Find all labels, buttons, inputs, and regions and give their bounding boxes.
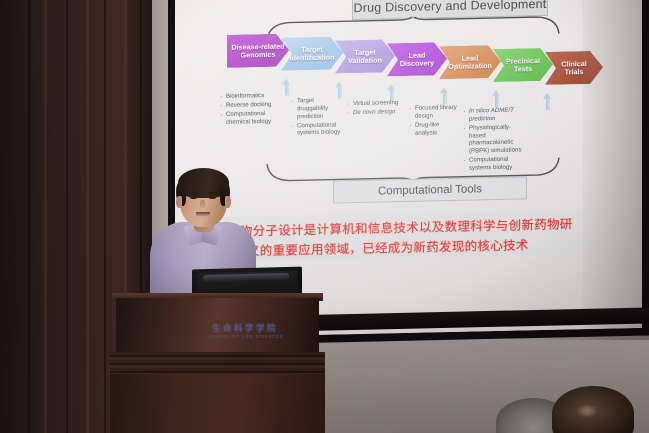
audience-head-highlight [576,404,598,418]
stage-label-3b: Discovery [400,58,434,68]
bullet-item: In silico ADME/T prediction [463,106,525,123]
speaker-eye-left [190,196,197,199]
bullet-item: Physiologically-based pharmacokinetic (P… [463,123,525,156]
stage-chevron-2: TargetValidation [335,39,395,73]
bullet-item: De novo design [347,108,405,117]
stage-label-4b: Optimization [448,61,492,71]
stage-label-0b: Genomics [241,49,276,59]
bullet-item: Virtual screening [347,99,405,108]
bullet-item: Focused library design [409,104,457,121]
bullet-item: Bioinformatics [220,92,286,101]
screen-shading [583,0,642,329]
bullet-item: Computational systems biology [291,121,343,138]
stage-chevron-0: Disease-relatedGenomics [227,34,289,68]
speaker-mouth [196,212,210,217]
bullet-column-2: Virtual screening De novo design [347,99,405,118]
computational-tools-label: Computational Tools [378,183,482,197]
bullet-item: Computational chemical biology [220,110,286,127]
podium-organization-en: SCHOOL OF LIFE SCIENCES [208,334,283,339]
stage-label-5b: Tests [514,64,532,73]
bullet-item: Target druggability prediction [291,96,343,121]
stage-chevron-5: PrecinicalTests [493,48,553,82]
speaker-eyebrow-left [189,192,198,194]
bullet-item: Reverse docking [220,101,286,110]
speaker-eyebrow-right [208,192,217,194]
podium-moulding [110,352,325,374]
up-arrow-icon-5 [543,93,552,110]
up-arrow-icon-4 [492,90,501,107]
stage-chevron-3: LeadDiscovery [387,42,447,76]
presentation-photo: Drug Discovery and Development Disease-r… [0,0,649,433]
speaker-eye-right [209,196,216,199]
bullet-item: Drug-like analysis [409,121,457,138]
up-arrow-icon-3 [440,87,449,104]
speaker-nose [200,200,205,208]
speaker-ear-right [225,196,231,208]
bullet-column-0: Bioinformatics Reverse docking Computati… [220,92,286,128]
stage-chevron-1: TargetIdentification [281,36,343,70]
stage-label-2b: Validation [348,55,382,65]
bullet-column-1: Target druggability prediction Computati… [291,96,343,138]
computational-tools-box: Computational Tools [333,176,527,203]
slide-title: Drug Discovery and Development [354,0,547,15]
stage-label-1b: Identification [290,52,335,62]
stage-chevron-4: LeadOptimization [439,45,501,79]
bullet-column-3: Focused library design Drug-like analysi… [409,104,457,139]
stage-label-6b: Trials [565,67,584,76]
speaker-ear-left [176,196,182,208]
podium-organization-cn: 生命科学学院 [212,322,278,334]
